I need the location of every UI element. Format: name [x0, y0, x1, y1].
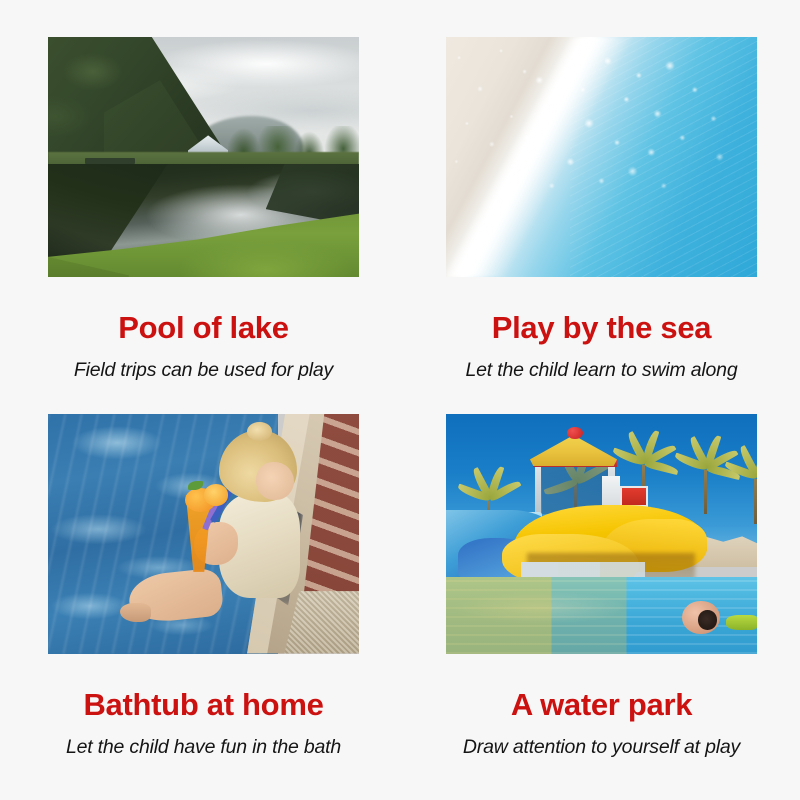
pool-buoy-opening [698, 610, 717, 629]
image-caption-grid: Pool of lake Field trips can be used for… [0, 0, 800, 800]
card-a-water-park[interactable]: A water park Draw attention to yourself … [445, 414, 758, 781]
card-subtitle: Draw attention to yourself at play [463, 738, 740, 758]
card-title: Bathtub at home [83, 689, 323, 720]
gazebo-post-left [535, 462, 542, 515]
pool-child-photo[interactable] [48, 414, 359, 654]
palm-trunk [754, 479, 757, 524]
card-title: Play by the sea [492, 312, 712, 343]
play-structure-red-panel [620, 486, 648, 508]
card-subtitle: Let the child have fun in the bath [66, 738, 341, 758]
sea-foam-specks [446, 37, 757, 277]
card-play-by-the-sea[interactable]: Play by the sea Let the child learn to s… [445, 37, 758, 404]
palm-tree-icon [720, 452, 757, 524]
card-bathtub-at-home[interactable]: Bathtub at home Let the child have fun i… [47, 414, 360, 781]
card-subtitle: Field trips can be used for play [74, 361, 333, 381]
sea-photo[interactable] [446, 37, 757, 277]
card-title: A water park [511, 689, 692, 720]
play-structure-white-panel [602, 476, 621, 505]
child-face [256, 462, 293, 500]
card-subtitle: Let the child learn to swim along [466, 361, 738, 381]
water-park-photo[interactable] [446, 414, 757, 654]
card-title: Pool of lake [118, 312, 288, 343]
card-pool-of-lake[interactable]: Pool of lake Field trips can be used for… [47, 37, 360, 404]
palm-trunk [704, 470, 707, 515]
lake-photo[interactable] [48, 37, 359, 277]
pool-green-float [726, 615, 757, 629]
gazebo-red-finial [567, 427, 583, 439]
child-hair-bun [247, 422, 272, 441]
